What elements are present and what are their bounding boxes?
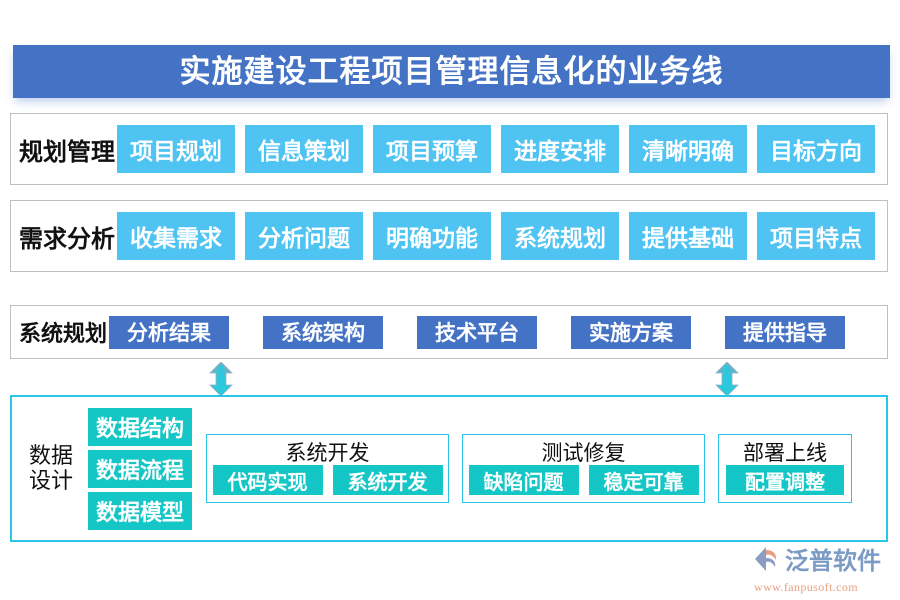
chip-testing-1[interactable]: 缺陷问题 bbox=[469, 465, 579, 495]
chip-planning-4[interactable]: 进度安排 bbox=[501, 125, 619, 173]
diagram-canvas: 实施建设工程项目管理信息化的业务线 规划管理 项目规划 信息策划 项目预算 进度… bbox=[0, 0, 900, 600]
stage-row-requirements: 需求分析 收集需求 分析问题 明确功能 系统规划 提供基础 项目特点 bbox=[10, 200, 888, 272]
data-design-label: 数据 设计 bbox=[22, 444, 80, 493]
chip-deployment-1[interactable]: 配置调整 bbox=[726, 465, 844, 495]
chip-group-requirements: 收集需求 分析问题 明确功能 系统规划 提供基础 项目特点 bbox=[117, 201, 887, 271]
chip-system-planning-2[interactable]: 系统架构 bbox=[263, 316, 383, 349]
chip-system-planning-1[interactable]: 分析结果 bbox=[109, 316, 229, 349]
connector-arrow-left bbox=[208, 362, 234, 396]
brand-logo-top: 泛普软件 bbox=[752, 546, 881, 577]
brand-url: www.fanpusoft.com bbox=[754, 580, 858, 595]
chip-development-2[interactable]: 系统开发 bbox=[333, 465, 443, 495]
subpanel-testing: 测试修复 缺陷问题 稳定可靠 bbox=[462, 434, 705, 503]
stage-row-planning: 规划管理 项目规划 信息策划 项目预算 进度安排 清晰明确 目标方向 bbox=[10, 113, 888, 185]
brand-logo: 泛普软件 www.fanpusoft.com bbox=[752, 546, 881, 595]
subpanel-chips-testing: 缺陷问题 稳定可靠 bbox=[469, 465, 699, 495]
chip-planning-6[interactable]: 目标方向 bbox=[757, 125, 875, 173]
page-title: 实施建设工程项目管理信息化的业务线 bbox=[180, 56, 724, 87]
subpanel-group: 系统开发 代码实现 系统开发 测试修复 缺陷问题 稳定可靠 部署上线 配置调整 bbox=[192, 397, 886, 540]
chip-requirements-6[interactable]: 项目特点 bbox=[757, 212, 875, 260]
subpanel-title-development: 系统开发 bbox=[286, 442, 370, 464]
data-design-label-line1: 数据 bbox=[22, 444, 80, 469]
brand-name: 泛普软件 bbox=[785, 550, 881, 574]
chip-requirements-5[interactable]: 提供基础 bbox=[629, 212, 747, 260]
chip-planning-1[interactable]: 项目规划 bbox=[117, 125, 235, 173]
chip-data-design-1[interactable]: 数据结构 bbox=[88, 408, 192, 446]
subpanel-deployment: 部署上线 配置调整 bbox=[718, 434, 852, 503]
chip-requirements-1[interactable]: 收集需求 bbox=[117, 212, 235, 260]
subpanel-chips-deployment: 配置调整 bbox=[726, 465, 844, 495]
chip-data-design-3[interactable]: 数据模型 bbox=[88, 492, 192, 530]
chip-system-planning-5[interactable]: 提供指导 bbox=[725, 316, 845, 349]
subpanel-chips-development: 代码实现 系统开发 bbox=[213, 465, 443, 495]
stage-label-system-planning: 系统规划 bbox=[11, 316, 109, 348]
connector-arrow-right bbox=[714, 362, 740, 396]
chip-planning-5[interactable]: 清晰明确 bbox=[629, 125, 747, 173]
data-design-block: 数据 设计 数据结构 数据流程 数据模型 bbox=[12, 397, 192, 540]
stage-row-system-planning: 系统规划 分析结果 系统架构 技术平台 实施方案 提供指导 bbox=[10, 305, 888, 359]
title-banner: 实施建设工程项目管理信息化的业务线 bbox=[13, 45, 890, 98]
chip-testing-2[interactable]: 稳定可靠 bbox=[589, 465, 699, 495]
chip-development-1[interactable]: 代码实现 bbox=[213, 465, 323, 495]
data-design-chip-group: 数据结构 数据流程 数据模型 bbox=[88, 408, 192, 530]
chip-data-design-2[interactable]: 数据流程 bbox=[88, 450, 192, 488]
chip-planning-3[interactable]: 项目预算 bbox=[373, 125, 491, 173]
fanpu-mark-icon bbox=[752, 546, 782, 577]
subpanel-title-testing: 测试修复 bbox=[542, 442, 626, 464]
stage-label-requirements: 需求分析 bbox=[11, 219, 117, 254]
chip-requirements-2[interactable]: 分析问题 bbox=[245, 212, 363, 260]
chip-system-planning-4[interactable]: 实施方案 bbox=[571, 316, 691, 349]
data-design-label-line2: 设计 bbox=[22, 469, 80, 494]
chip-group-system-planning: 分析结果 系统架构 技术平台 实施方案 提供指导 bbox=[109, 306, 887, 358]
bottom-panel: 数据 设计 数据结构 数据流程 数据模型 系统开发 代码实现 系统开发 测试修复 bbox=[10, 395, 888, 542]
chip-system-planning-3[interactable]: 技术平台 bbox=[417, 316, 537, 349]
chip-planning-2[interactable]: 信息策划 bbox=[245, 125, 363, 173]
stage-label-planning: 规划管理 bbox=[11, 132, 117, 167]
chip-requirements-4[interactable]: 系统规划 bbox=[501, 212, 619, 260]
subpanel-development: 系统开发 代码实现 系统开发 bbox=[206, 434, 449, 503]
subpanel-title-deployment: 部署上线 bbox=[743, 442, 827, 464]
chip-requirements-3[interactable]: 明确功能 bbox=[373, 212, 491, 260]
chip-group-planning: 项目规划 信息策划 项目预算 进度安排 清晰明确 目标方向 bbox=[117, 114, 887, 184]
